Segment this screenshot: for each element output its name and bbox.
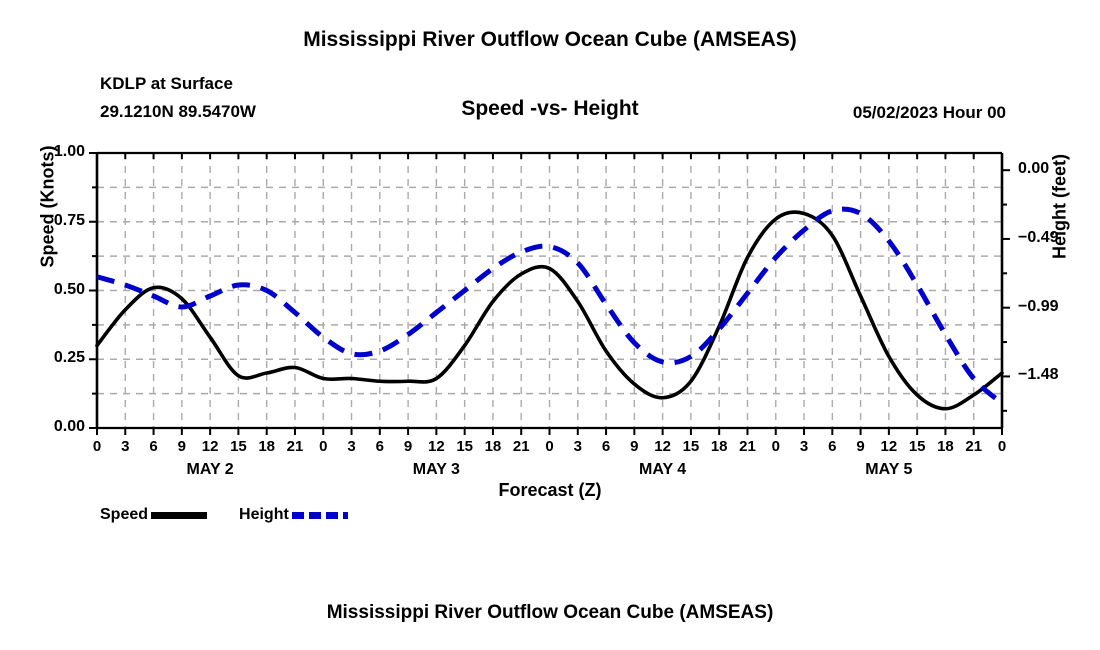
x-axis-tick-label: 21 [283,438,307,455]
x-axis-tick-label: 9 [170,438,194,455]
y-axis-left-tick-label: 0.00 [29,418,85,436]
legend-swatch-speed [151,512,207,519]
x-axis-tick-label: 18 [481,438,505,455]
grid-lines [97,153,1002,428]
x-axis-tick-label: 9 [396,438,420,455]
x-axis-tick-label: 6 [142,438,166,455]
x-axis-day-label: MAY 5 [844,461,934,479]
x-axis-tick-label: 3 [340,438,364,455]
x-axis-tick-label: 3 [566,438,590,455]
x-axis-day-label: MAY 4 [618,461,708,479]
x-axis-tick-label: 9 [622,438,646,455]
x-axis-tick-label: 12 [877,438,901,455]
y-axis-right-tick-label: −0.99 [1018,298,1078,316]
x-axis-tick-label: 0 [85,438,109,455]
x-axis-tick-label: 6 [820,438,844,455]
x-axis-tick-label: 15 [679,438,703,455]
plot-area [0,0,1100,650]
x-axis-tick-label: 12 [651,438,675,455]
y-axis-right-tick-label: −1.48 [1018,366,1078,384]
x-axis-tick-label: 21 [962,438,986,455]
chart-container: Mississippi River Outflow Ocean Cube (AM… [0,0,1100,650]
y-axis-right-tick-label: 0.00 [1018,160,1078,178]
x-axis-tick-label: 15 [226,438,250,455]
x-axis-day-label: MAY 3 [391,461,481,479]
x-axis-tick-label: 9 [849,438,873,455]
legend-item-speed: Speed [100,506,207,524]
x-axis-tick-label: 15 [905,438,929,455]
y-axis-left-tick-label: 0.50 [29,281,85,299]
x-axis-tick-label: 3 [113,438,137,455]
chart-legend: Speed Height [100,506,348,524]
x-axis-tick-label: 18 [255,438,279,455]
x-axis-tick-label: 18 [707,438,731,455]
x-axis-tick-label: 15 [453,438,477,455]
x-axis-tick-label: 6 [594,438,618,455]
y-axis-left-tick-label: 0.75 [29,212,85,230]
y-axis-left-tick-label: 0.25 [29,349,85,367]
y-axis-right-tick-label: −0.49 [1018,229,1078,247]
y-axis-left-tick-label: 1.00 [29,143,85,161]
x-axis-tick-label: 21 [509,438,533,455]
footer-title: Mississippi River Outflow Ocean Cube (AM… [0,602,1100,624]
legend-swatch-height [292,512,348,519]
legend-label-height: Height [239,506,289,524]
x-axis-tick-label: 12 [424,438,448,455]
x-axis-tick-label: 3 [792,438,816,455]
x-axis-tick-label: 12 [198,438,222,455]
x-axis-tick-label: 0 [990,438,1014,455]
x-axis-tick-label: 0 [538,438,562,455]
x-axis-tick-label: 0 [311,438,335,455]
legend-label-speed: Speed [100,506,148,524]
x-axis-tick-label: 6 [368,438,392,455]
x-axis-tick-label: 21 [735,438,759,455]
x-axis-tick-label: 0 [764,438,788,455]
x-axis-tick-label: 18 [933,438,957,455]
legend-item-height: Height [239,506,348,524]
x-axis-day-label: MAY 2 [165,461,255,479]
